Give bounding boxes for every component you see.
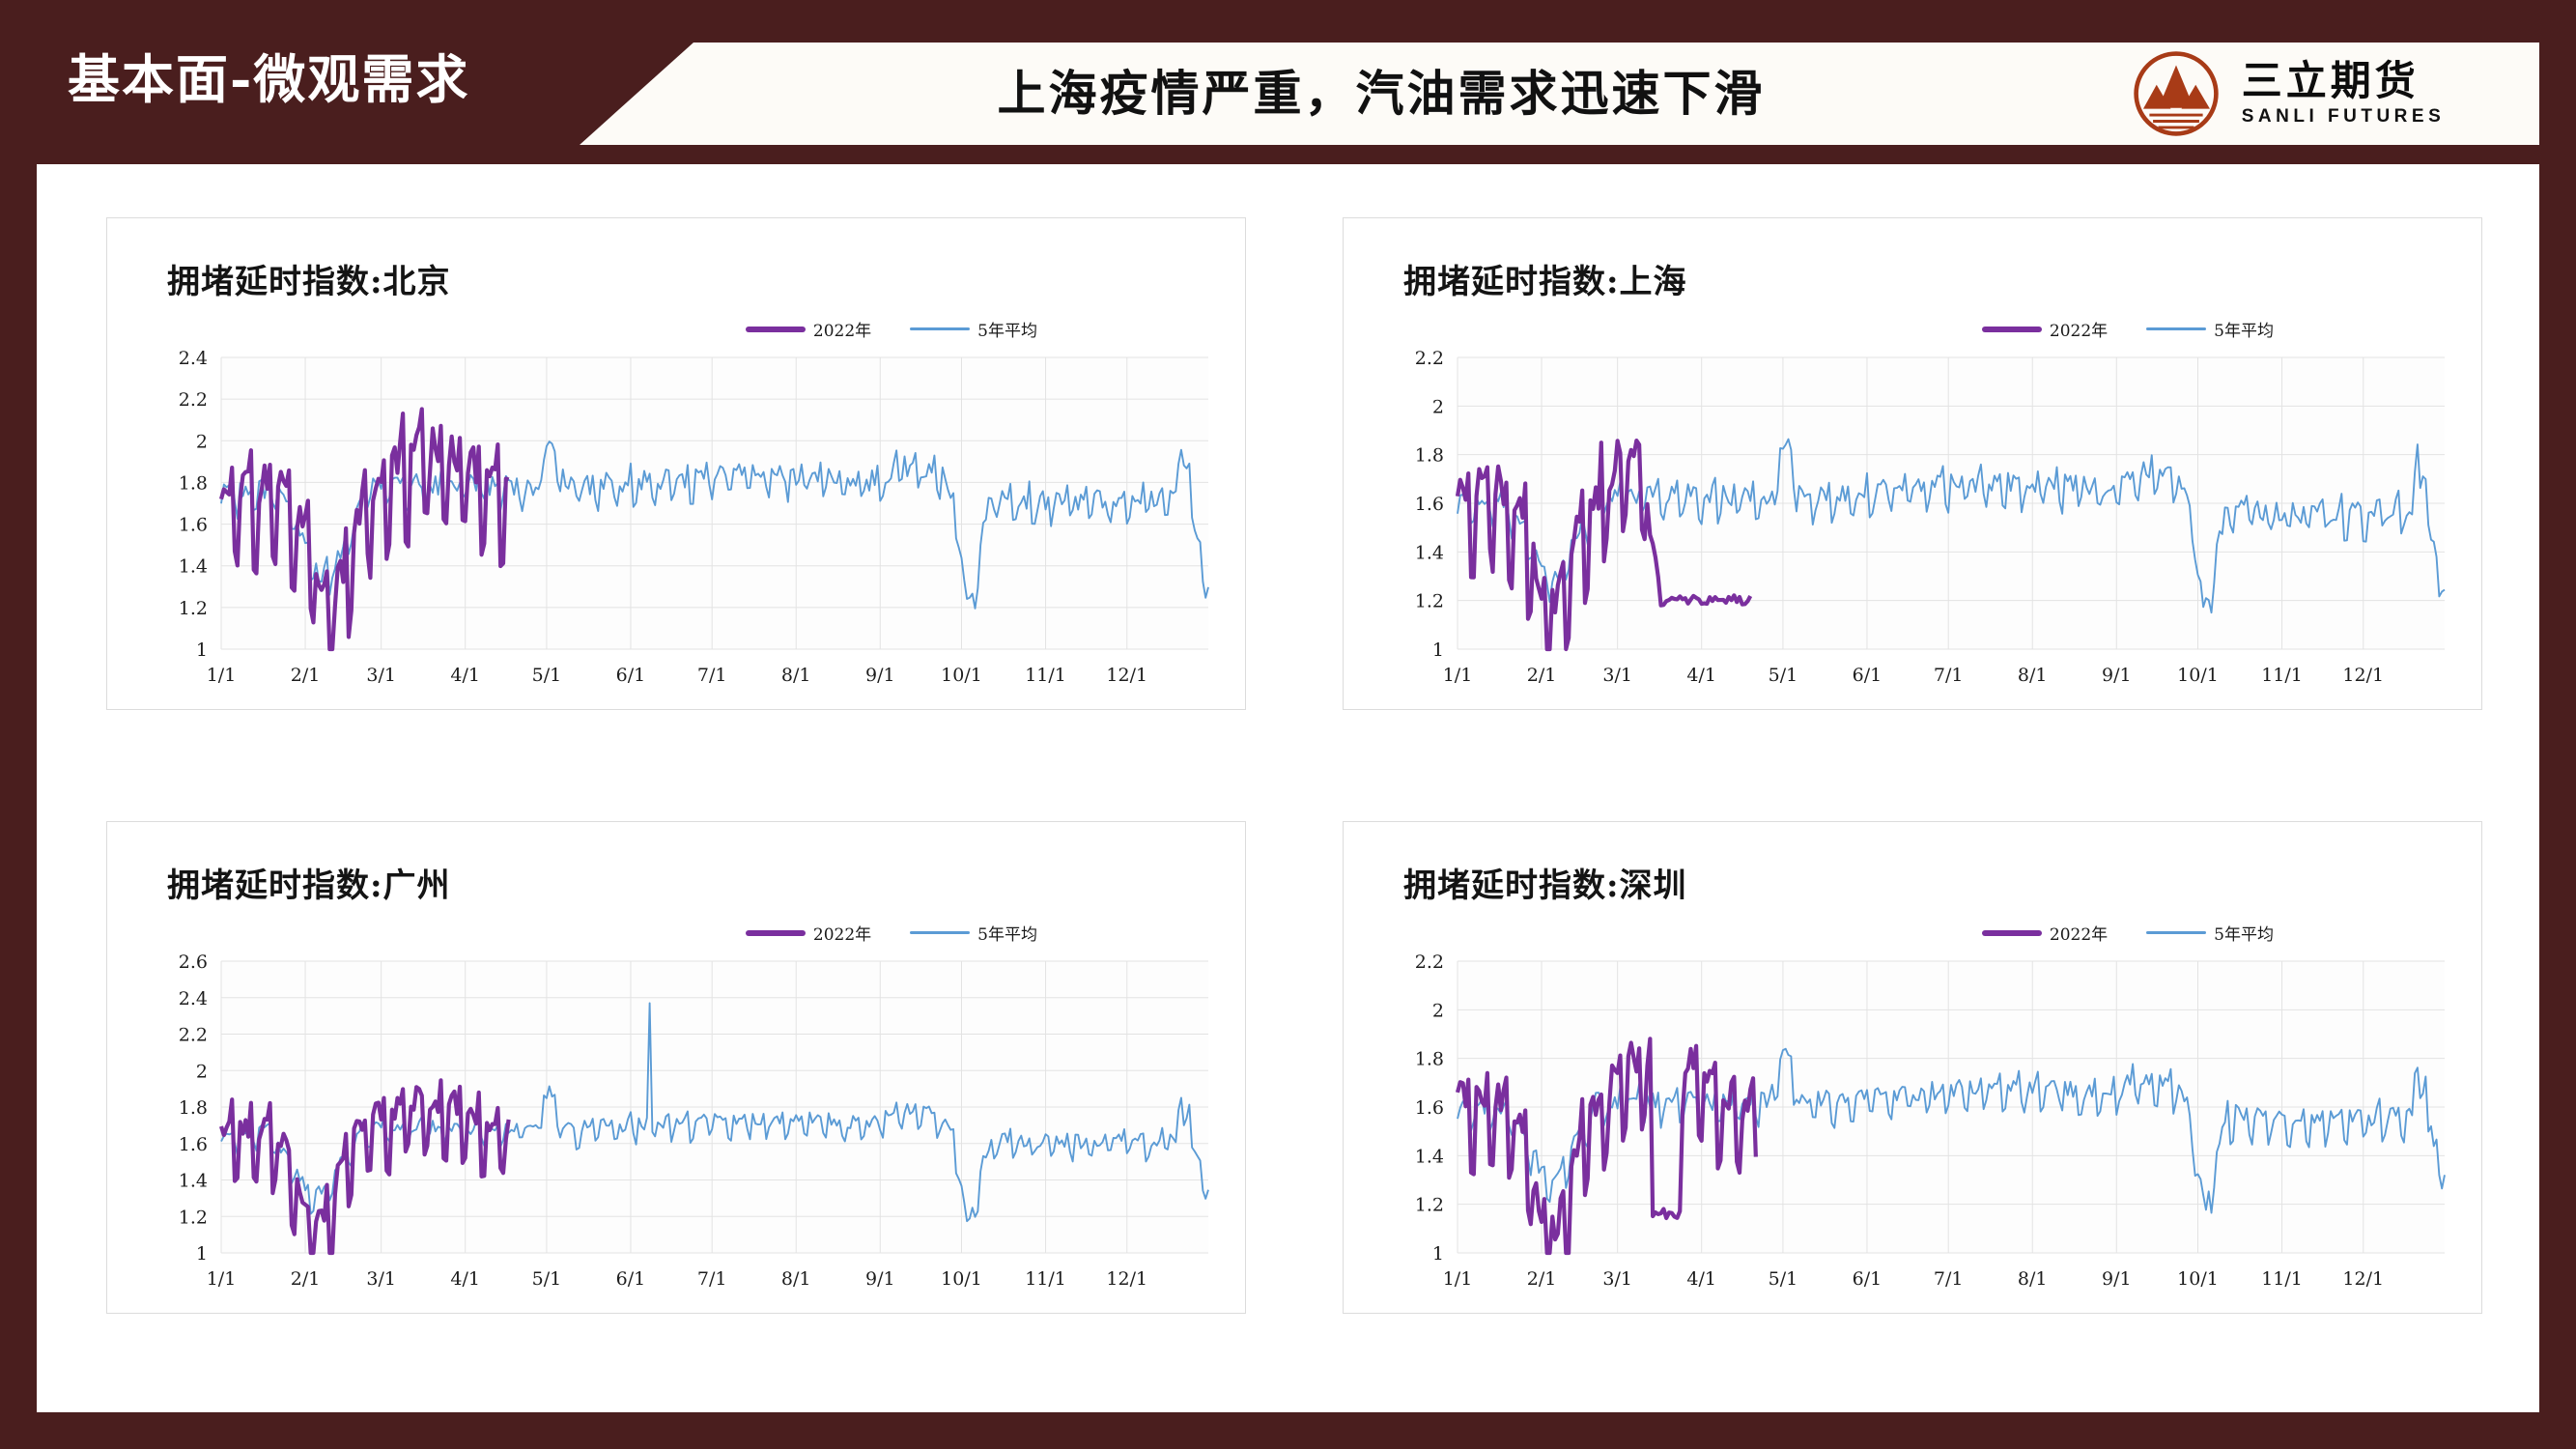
chart-plot: 11.21.41.61.822.22.42.6 [107,948,1247,1266]
chart-title: 拥堵延时指数:上海 [1403,255,1687,302]
x-tick-label: 10/1 [941,1268,982,1290]
x-tick-label: 3/1 [366,665,396,686]
x-tick-label: 3/1 [1602,1268,1632,1290]
chart-title: 拥堵延时指数:深圳 [1403,859,1687,906]
y-tick-label: 1.8 [1415,1049,1444,1070]
x-tick-label: 10/1 [2177,1268,2219,1290]
legend-swatch-2022 [1982,327,2042,332]
x-tick-label: 7/1 [1934,1268,1964,1290]
y-tick-label: 1.2 [179,1207,208,1228]
x-tick-label: 4/1 [1686,665,1716,686]
legend-item-avg5: 5年平均 [910,921,1037,945]
legend-swatch-2022 [1982,930,2042,936]
x-tick-label: 1/1 [207,665,237,686]
x-tick-label: 9/1 [2102,665,2132,686]
x-tick-label: 12/1 [2342,665,2384,686]
x-tick-label: 1/1 [1443,1268,1473,1290]
x-tick-label: 6/1 [1853,665,1882,686]
y-tick-label: 1.2 [1415,1195,1444,1216]
x-tick-label: 6/1 [616,665,646,686]
legend-swatch-2022 [746,930,806,936]
x-tick-label: 1/1 [207,1268,237,1290]
y-tick-label: 1 [196,639,208,661]
legend-label-2022: 2022年 [2050,921,2108,945]
x-tick-label: 7/1 [1934,665,1964,686]
x-tick-label: 9/1 [865,665,895,686]
x-tick-label: 2/1 [1527,1268,1557,1290]
sanli-mountain-logo-icon [2132,49,2221,138]
chart-title: 拥堵延时指数:广州 [167,859,451,906]
y-tick-label: 1 [196,1243,208,1264]
x-tick-label: 11/1 [1025,665,1066,686]
legend-swatch-avg5 [2146,931,2206,934]
y-tick-label: 2 [196,1061,208,1082]
chart-plot: 11.21.41.61.822.22.4 [107,344,1247,663]
x-tick-label: 11/1 [1025,1268,1066,1290]
section-kicker: 基本面-微观需求 [68,37,469,113]
y-tick-label: 1.8 [179,1097,208,1119]
brand-name-cn: 三立期货 [2242,60,2420,102]
legend-item-2022: 2022年 [1982,317,2108,341]
x-tick-label: 2/1 [291,1268,321,1290]
x-tick-label: 10/1 [2177,665,2219,686]
plot-area: 11.21.41.61.822.2 [1344,344,2483,663]
y-tick-label: 2.2 [1415,952,1444,973]
x-tick-label: 8/1 [2018,665,2048,686]
y-tick-label: 1.8 [1415,445,1444,467]
chart-legend: 2022年 5年平均 [1982,317,2274,341]
legend-label-avg5: 5年平均 [977,317,1037,341]
x-tick-label: 9/1 [865,1268,895,1290]
slide-root: 基本面-微观需求 上海疫情严重，汽油需求迅速下滑 三立期货 SANLI FUTU… [0,0,2576,1449]
legend-item-2022: 2022年 [1982,921,2108,945]
x-tick-label: 7/1 [697,665,727,686]
x-tick-label: 4/1 [450,1268,480,1290]
chart-panel-shanghai: 拥堵延时指数:上海 2022年 5年平均 11.21.41.61.822.2 1… [1343,217,2482,710]
y-tick-label: 1 [1432,639,1444,661]
legend-swatch-avg5 [2146,327,2206,330]
y-tick-label: 1.2 [1415,591,1444,612]
y-tick-label: 1.4 [179,556,208,578]
legend-swatch-avg5 [910,931,970,934]
y-tick-label: 2 [196,431,208,452]
legend-label-2022: 2022年 [2050,317,2108,341]
y-tick-label: 1.4 [1415,1146,1444,1167]
x-tick-label: 11/1 [2261,1268,2303,1290]
legend-item-2022: 2022年 [746,921,871,945]
brand-wordmark: 三立期货 SANLI FUTURES [2242,60,2446,128]
y-tick-label: 2.4 [179,988,208,1009]
plot-area: 11.21.41.61.822.22.4 [107,344,1247,663]
x-tick-label: 8/1 [781,665,811,686]
x-tick-label: 7/1 [697,1268,727,1290]
y-tick-label: 1 [1432,1243,1444,1264]
legend-item-avg5: 5年平均 [2146,921,2274,945]
legend-label-2022: 2022年 [813,921,871,945]
x-tick-label: 9/1 [2102,1268,2132,1290]
x-tick-label: 12/1 [1106,665,1147,686]
legend-swatch-2022 [746,327,806,332]
x-tick-label: 11/1 [2261,665,2303,686]
x-tick-label: 6/1 [616,1268,646,1290]
chart-legend: 2022年 5年平均 [1982,921,2274,945]
legend-item-2022: 2022年 [746,317,871,341]
y-tick-label: 2.6 [179,952,208,973]
chart-title: 拥堵延时指数:北京 [167,255,451,302]
plot-area: 11.21.41.61.822.2 [1344,948,2483,1266]
y-tick-label: 1.6 [179,515,208,536]
legend-item-avg5: 5年平均 [910,317,1037,341]
legend-label-avg5: 5年平均 [2214,317,2274,341]
x-axis: 1/12/13/14/15/16/17/18/19/110/111/112/1 [1344,1268,2483,1301]
x-tick-label: 8/1 [2018,1268,2048,1290]
x-tick-label: 1/1 [1443,665,1473,686]
x-tick-label: 2/1 [291,665,321,686]
y-tick-label: 1.6 [179,1134,208,1155]
x-tick-label: 8/1 [781,1268,811,1290]
chart-legend: 2022年 5年平均 [746,921,1037,945]
chart-plot: 11.21.41.61.822.2 [1344,344,2483,663]
y-tick-label: 1.6 [1415,1097,1444,1119]
y-tick-label: 2.2 [179,1025,208,1046]
chart-plot: 11.21.41.61.822.2 [1344,948,2483,1266]
y-tick-label: 1.4 [179,1171,208,1192]
x-tick-label: 5/1 [532,1268,562,1290]
chart-grid: 拥堵延时指数:北京 2022年 5年平均 11.21.41.61.822.22.… [37,164,2539,1412]
x-tick-label: 4/1 [450,665,480,686]
y-tick-label: 2.2 [1415,348,1444,369]
legend-label-avg5: 5年平均 [977,921,1037,945]
x-axis: 1/12/13/14/15/16/17/18/19/110/111/112/1 [107,1268,1247,1301]
x-axis: 1/12/13/14/15/16/17/18/19/110/111/112/1 [107,665,1247,697]
y-tick-label: 1.6 [1415,494,1444,515]
x-tick-label: 3/1 [366,1268,396,1290]
chart-legend: 2022年 5年平均 [746,317,1037,341]
x-tick-label: 2/1 [1527,665,1557,686]
legend-swatch-avg5 [910,327,970,330]
slide-body: 拥堵延时指数:北京 2022年 5年平均 11.21.41.61.822.22.… [37,164,2539,1412]
chart-panel-beijing: 拥堵延时指数:北京 2022年 5年平均 11.21.41.61.822.22.… [106,217,1246,710]
x-tick-label: 5/1 [1769,1268,1798,1290]
y-tick-label: 1.8 [179,472,208,494]
x-tick-label: 3/1 [1602,665,1632,686]
chart-panel-guangzhou: 拥堵延时指数:广州 2022年 5年平均 11.21.41.61.822.22.… [106,821,1246,1314]
y-tick-label: 1.4 [1415,542,1444,563]
legend-label-2022: 2022年 [813,317,871,341]
x-tick-label: 10/1 [941,665,982,686]
x-tick-label: 6/1 [1853,1268,1882,1290]
plot-area: 11.21.41.61.822.22.42.6 [107,948,1247,1266]
legend-item-avg5: 5年平均 [2146,317,2274,341]
page-title: 上海疫情严重，汽油需求迅速下滑 [753,53,2009,134]
y-tick-label: 2.4 [179,348,208,369]
x-tick-label: 12/1 [1106,1268,1147,1290]
x-axis: 1/12/13/14/15/16/17/18/19/110/111/112/1 [1344,665,2483,697]
slide-header: 基本面-微观需求 上海疫情严重，汽油需求迅速下滑 三立期货 SANLI FUTU… [0,0,2576,164]
brand-name-en: SANLI FUTURES [2242,106,2446,128]
y-tick-label: 2 [1432,1000,1444,1021]
x-tick-label: 12/1 [2342,1268,2384,1290]
y-tick-label: 2.2 [179,389,208,411]
x-tick-label: 4/1 [1686,1268,1716,1290]
x-tick-label: 5/1 [1769,665,1798,686]
y-tick-label: 2 [1432,396,1444,417]
y-tick-label: 1.2 [179,598,208,619]
brand-logo: 三立期货 SANLI FUTURES [2037,43,2539,145]
chart-panel-shenzhen: 拥堵延时指数:深圳 2022年 5年平均 11.21.41.61.822.2 1… [1343,821,2482,1314]
x-tick-label: 5/1 [532,665,562,686]
legend-label-avg5: 5年平均 [2214,921,2274,945]
